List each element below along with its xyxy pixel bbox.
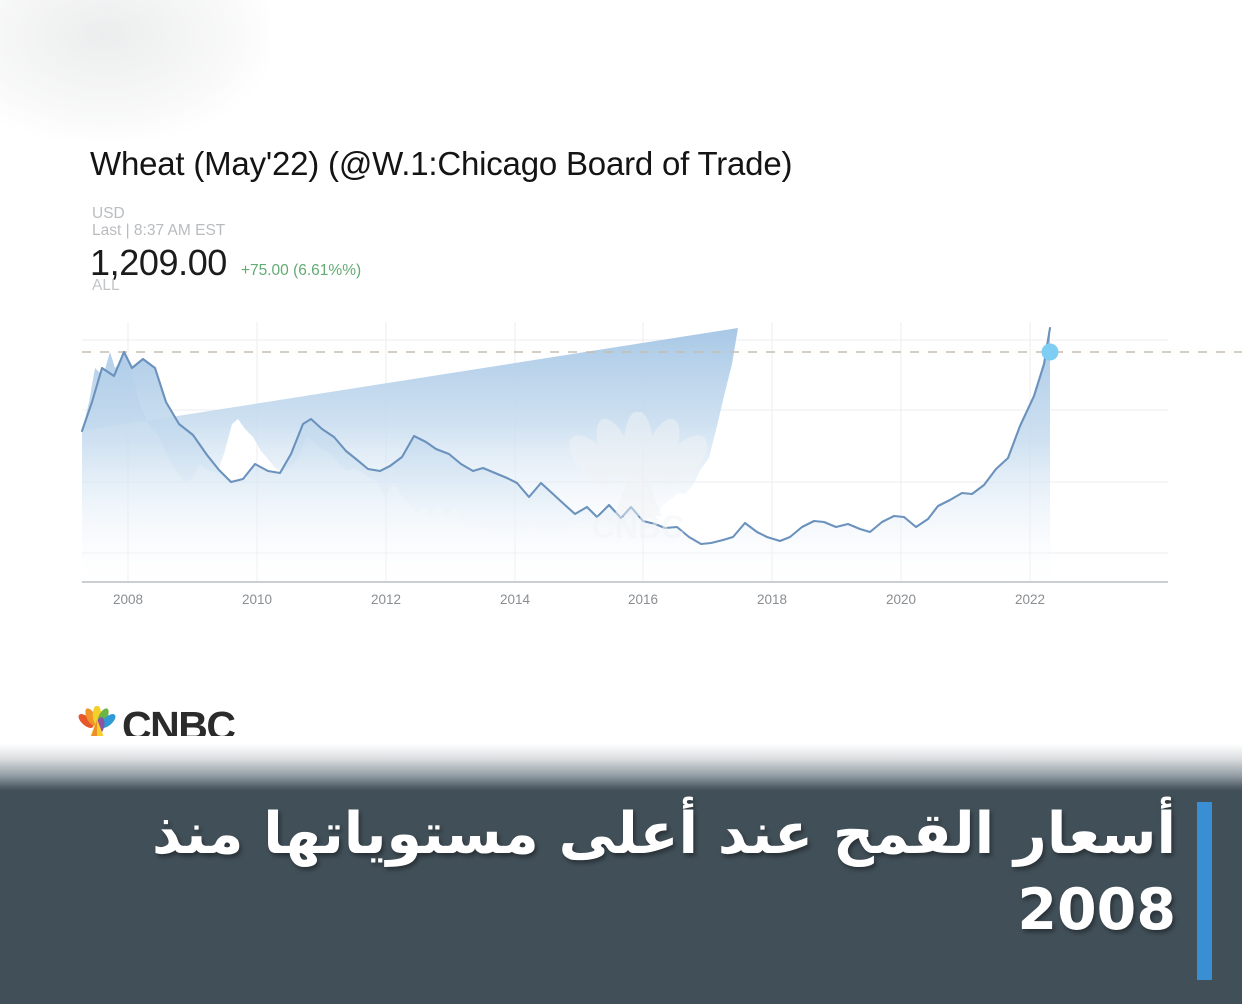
page-title: Wheat (May'22) (@W.1:Chicago Board of Tr… xyxy=(90,146,1180,182)
chart-card: Wheat (May'22) (@W.1:Chicago Board of Tr… xyxy=(0,0,1242,760)
x-tick-2018: 2018 xyxy=(757,592,787,607)
last-point-marker xyxy=(1042,344,1059,361)
x-tick-2014: 2014 xyxy=(500,592,530,607)
price-change: +75.00 (6.61%%) xyxy=(241,262,361,280)
x-tick-2022: 2022 xyxy=(1015,592,1045,607)
x-axis-labels: 2008 2010 2012 2014 2016 2018 2020 2022 xyxy=(0,592,1242,616)
x-tick-2012: 2012 xyxy=(371,592,401,607)
quote-header: Wheat (May'22) (@W.1:Chicago Board of Tr… xyxy=(90,146,1180,182)
currency-label: USD xyxy=(92,206,125,222)
price-chart[interactable]: CNBC xyxy=(0,316,1242,616)
quote-timestamp: Last | 8:37 AM EST xyxy=(92,223,225,239)
band-gradient-divider xyxy=(0,736,1242,792)
x-tick-2010: 2010 xyxy=(242,592,272,607)
range-selector-label[interactable]: ALL xyxy=(92,278,120,294)
caption-band: أسعار القمح عند أعلى مستوياتها منذ 2008 xyxy=(0,790,1242,1004)
price-row: 1,209.00 +75.00 (6.61%%) xyxy=(90,242,361,284)
x-tick-2016: 2016 xyxy=(628,592,658,607)
accent-bar xyxy=(1197,802,1212,980)
x-tick-2020: 2020 xyxy=(886,592,916,607)
x-tick-2008: 2008 xyxy=(113,592,143,607)
chart-svg xyxy=(0,316,1242,616)
corner-haze-decoration xyxy=(0,0,270,140)
caption-headline: أسعار القمح عند أعلى مستوياتها منذ 2008 xyxy=(66,796,1176,949)
